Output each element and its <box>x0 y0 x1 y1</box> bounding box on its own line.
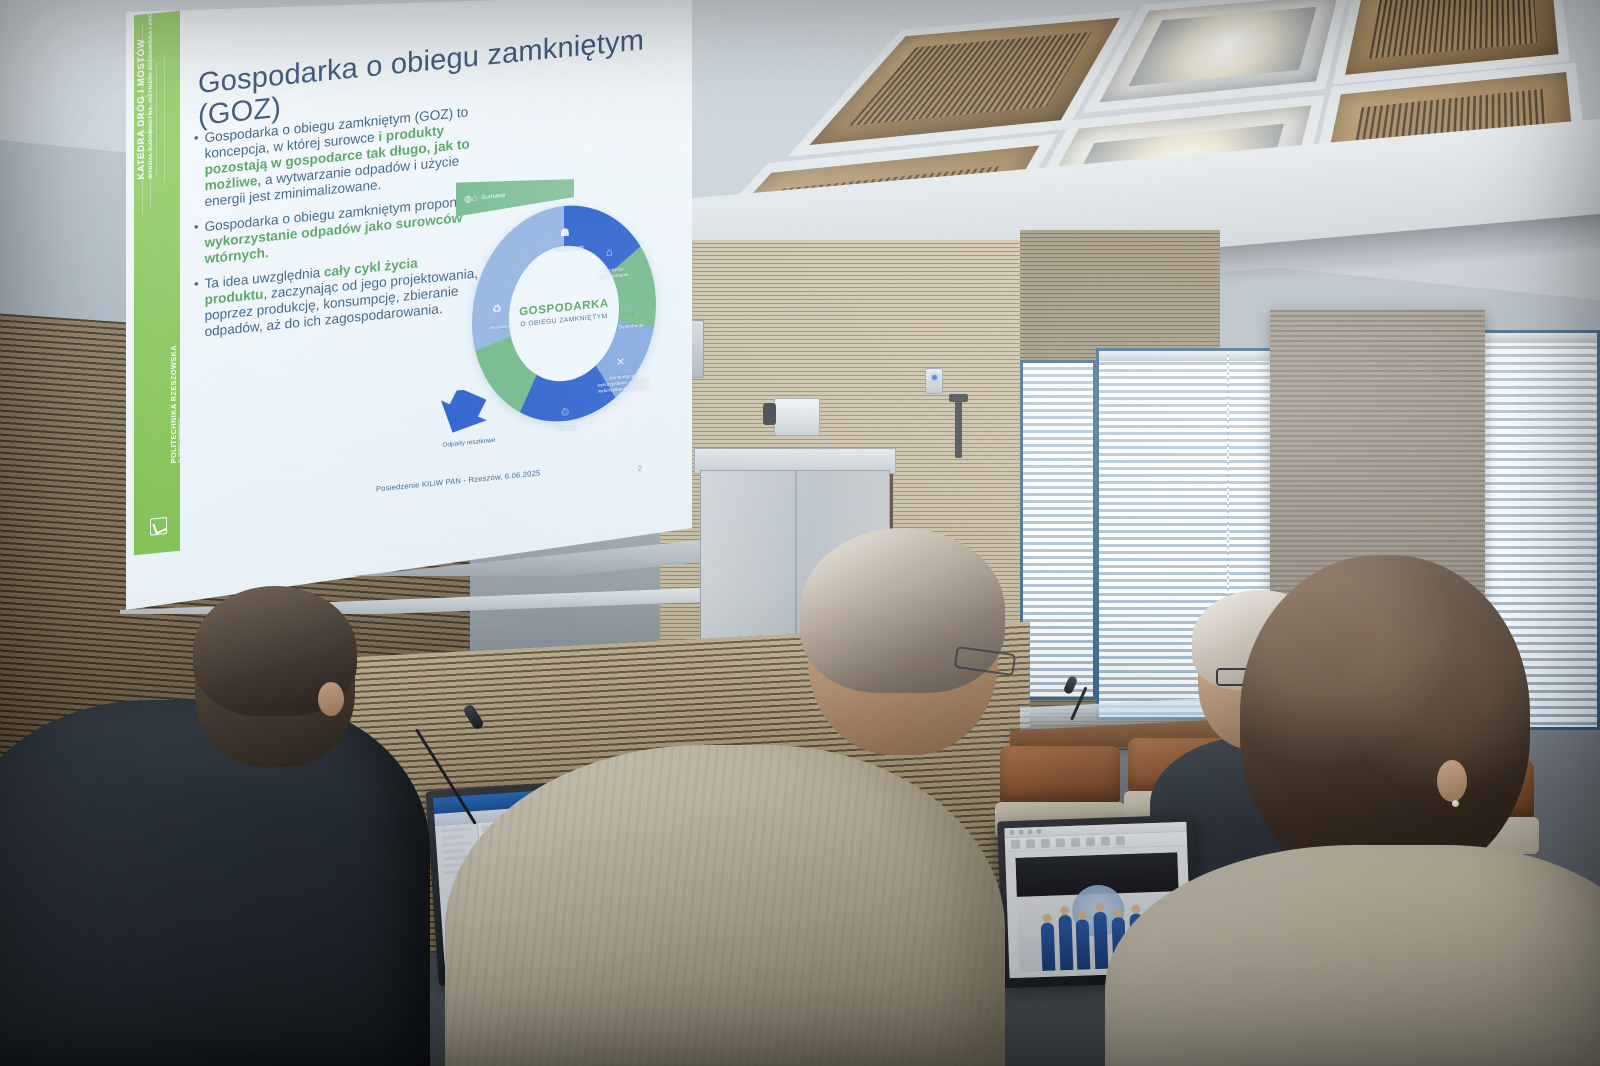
attendee-center-body <box>445 745 1005 1066</box>
titlebar-icon[interactable] <box>1036 829 1041 834</box>
venetian-blinds <box>1023 363 1093 697</box>
bullet-dot-icon: • <box>194 277 199 342</box>
diagram-label-zbieranie: Zbieranie <box>542 423 594 434</box>
attendee-left-ear <box>318 682 344 716</box>
photo-person <box>1076 919 1091 970</box>
titlebar-icon[interactable] <box>1009 830 1014 835</box>
attendee-right-earring <box>1452 800 1459 807</box>
slide-page-number: 2 <box>638 465 642 472</box>
ribbon-icon[interactable] <box>1041 839 1050 848</box>
bullet-dot-icon: • <box>194 131 199 212</box>
university-logo: POLITECHNIKA RZESZOWSKA im. Ignacego Łuk… <box>140 516 180 539</box>
sidebar-department: KATEDRA DRÓG I MOSTÓW <box>136 11 147 180</box>
slide-sidebar-text: KATEDRA DRÓG I MOSTÓW WYDZIAŁ BUDOWNICTW… <box>136 11 154 180</box>
slide-sidebar: KATEDRA DRÓG I MOSTÓW WYDZIAŁ BUDOWNICTW… <box>134 11 180 556</box>
waste-bin-icon: ♲ <box>560 407 570 419</box>
circular-economy-diagram: ◍⌂ Surowce GOSPODARKA O OBIEGU ZAMKNIĘTY… <box>456 147 676 489</box>
shopping-cart-icon: 🛒 <box>624 303 638 315</box>
ribbon-icon[interactable] <box>1101 837 1110 846</box>
university-name: POLITECHNIKA RZESZOWSKA im. Ignacego Łuk… <box>170 344 180 463</box>
wall-bracket-icon <box>955 400 962 458</box>
attendee-center-shirt-texture <box>445 745 1005 1066</box>
projected-slide: KATEDRA DRÓG I MOSTÓW WYDZIAŁ BUDOWNICTW… <box>126 0 692 610</box>
diagram-input-label: Surowce <box>481 191 505 200</box>
ceiling-lamp-icon <box>1129 7 1317 86</box>
chair-back <box>1000 746 1120 802</box>
email-folder-item[interactable] <box>443 849 466 854</box>
slide-bullet-list: • Gospodarka o obiegu zamkniętym (GOZ) t… <box>194 103 484 351</box>
attendee-right-hair <box>1240 555 1530 885</box>
window-far-left <box>1020 360 1096 700</box>
attendee-left-body <box>0 700 430 1066</box>
ceiling-grille-icon <box>850 32 1091 125</box>
university-subtitle: im. Ignacego Łukasiewicza <box>178 344 180 463</box>
bullet-dot-icon: • <box>194 220 199 269</box>
motion-sensor-icon <box>925 368 943 394</box>
email-folder-item[interactable] <box>442 841 472 846</box>
titlebar-icon[interactable] <box>1027 829 1032 834</box>
gooseneck-microphone[interactable] <box>430 702 520 822</box>
ceiling-grille-icon <box>1369 0 1537 59</box>
projector-sensor-icon <box>774 398 820 436</box>
attendee-right-ear <box>1437 760 1467 802</box>
mic-capsule <box>462 703 485 731</box>
titlebar-icon[interactable] <box>1018 830 1023 835</box>
mic-capsule <box>1063 675 1079 695</box>
ribbon-icon[interactable] <box>1116 836 1125 845</box>
university-mark-icon <box>150 517 167 536</box>
projection-screen: KATEDRA DRÓG I MOSTÓW WYDZIAŁ BUDOWNICTW… <box>126 0 692 610</box>
ribbon-icon[interactable] <box>1086 837 1095 846</box>
recycle-icon: ♻ <box>492 304 502 316</box>
email-folder-item[interactable] <box>441 827 471 832</box>
factory-tree-icon: ⌂ <box>606 247 613 259</box>
slide-content: KATEDRA DRÓG I MOSTÓW WYDZIAŁ BUDOWNICTW… <box>126 0 692 616</box>
photo-person <box>1093 912 1108 969</box>
conference-room-photo: KATEDRA DRÓG I MOSTÓW WYDZIAŁ BUDOWNICTW… <box>0 0 1600 1066</box>
email-folder-item[interactable] <box>442 835 465 840</box>
ribbon-icon[interactable] <box>1026 839 1035 848</box>
mic-stem <box>1070 687 1087 721</box>
ribbon-icon[interactable] <box>1056 838 1065 847</box>
blind-headrail <box>1099 351 1271 361</box>
head-idea-icon: ☗ <box>560 227 570 239</box>
water-tree-factory-icon: ◍⌂ <box>464 193 477 203</box>
ribbon-icon[interactable] <box>1011 840 1020 849</box>
gooseneck-microphone[interactable] <box>1030 678 1090 718</box>
sidebar-faculty: WYDZIAŁ BUDOWNICTWA, INŻYNIERII ŚRODOWIS… <box>148 11 154 179</box>
photo-person <box>1040 923 1055 971</box>
fork-knife-icon: ✕ <box>616 357 625 369</box>
ribbon-icon[interactable] <box>1071 838 1080 847</box>
down-arrow-icon <box>432 388 488 441</box>
photo-person <box>1058 915 1073 970</box>
